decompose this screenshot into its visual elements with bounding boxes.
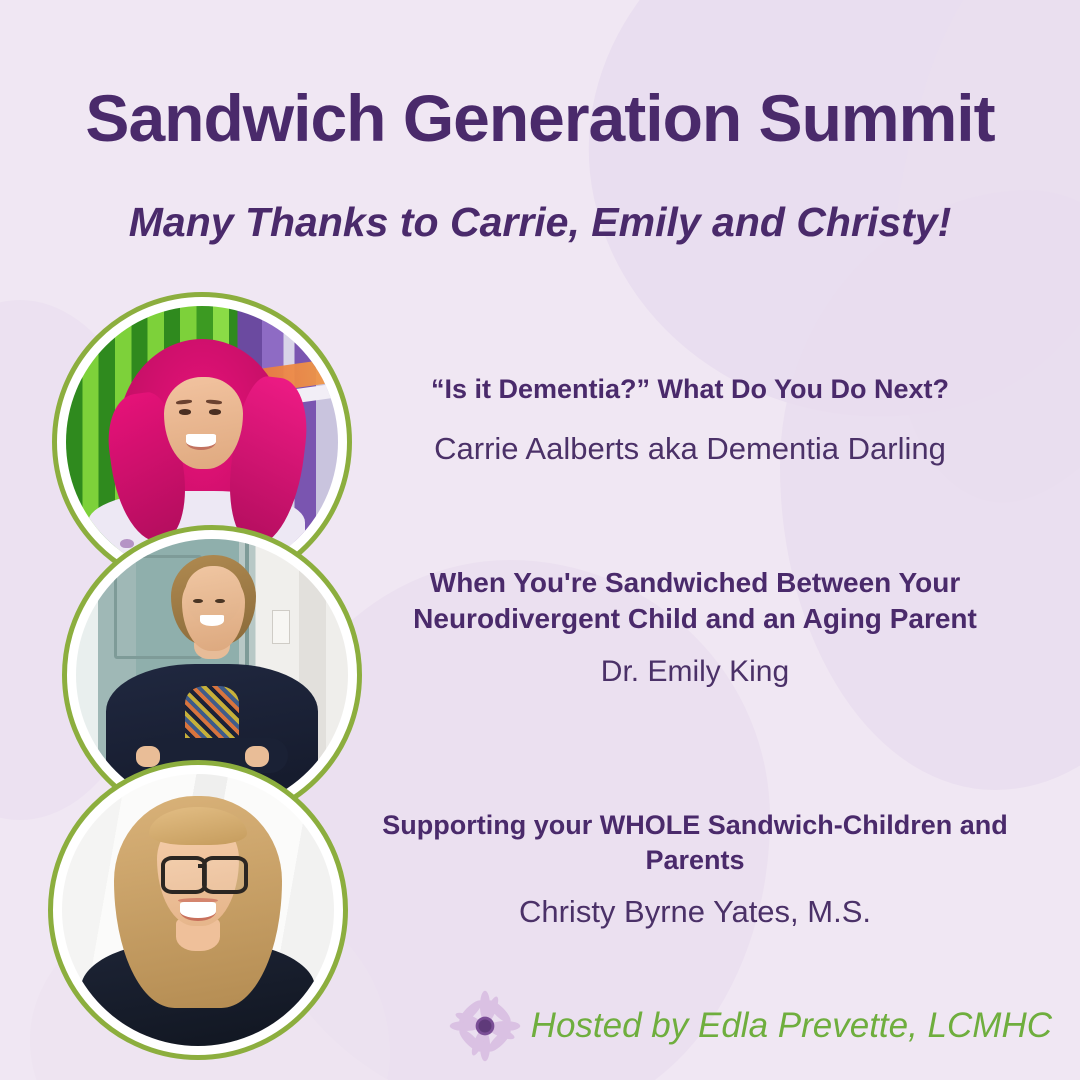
speaker-photo-christy-image [62, 774, 334, 1046]
daisy-flower-icon [449, 990, 521, 1062]
session-block-carrie: “Is it Dementia?” What Do You Do Next? C… [380, 372, 1000, 469]
page-title: Sandwich Generation Summit [0, 84, 1080, 153]
page-subtitle: Many Thanks to Carrie, Emily and Christy… [0, 200, 1080, 245]
footer: Hosted by Edla Prevette, LCMHC [449, 990, 1052, 1062]
session-title: When You're Sandwiched Between Your Neur… [375, 565, 1015, 638]
session-speaker: Carrie Aalberts aka Dementia Darling [380, 429, 1000, 469]
photo1-eye-left [179, 409, 191, 414]
photo3-glasses-right [202, 856, 248, 894]
session-title: Supporting your WHOLE Sandwich-Children … [375, 808, 1015, 878]
host-label: Hosted by Edla Prevette, LCMHC [531, 1006, 1052, 1046]
session-block-christy: Supporting your WHOLE Sandwich-Children … [375, 808, 1015, 932]
photo2-hand-left [136, 746, 160, 768]
session-block-emily: When You're Sandwiched Between Your Neur… [375, 565, 1015, 691]
photo1-eye-right [209, 409, 221, 414]
photo2-hand-right [245, 746, 269, 768]
photo3-glasses-bridge [198, 864, 206, 876]
photo2-smile [200, 615, 224, 626]
session-title: “Is it Dementia?” What Do You Do Next? [380, 372, 1000, 407]
speaker-photo-christy [48, 760, 348, 1060]
poster-canvas: Sandwich Generation Summit Many Thanks t… [0, 0, 1080, 1080]
session-speaker: Dr. Emily King [375, 652, 1015, 691]
photo2-light-switch [272, 610, 290, 645]
session-speaker: Christy Byrne Yates, M.S. [375, 892, 1015, 932]
photo3-smile [180, 902, 215, 921]
